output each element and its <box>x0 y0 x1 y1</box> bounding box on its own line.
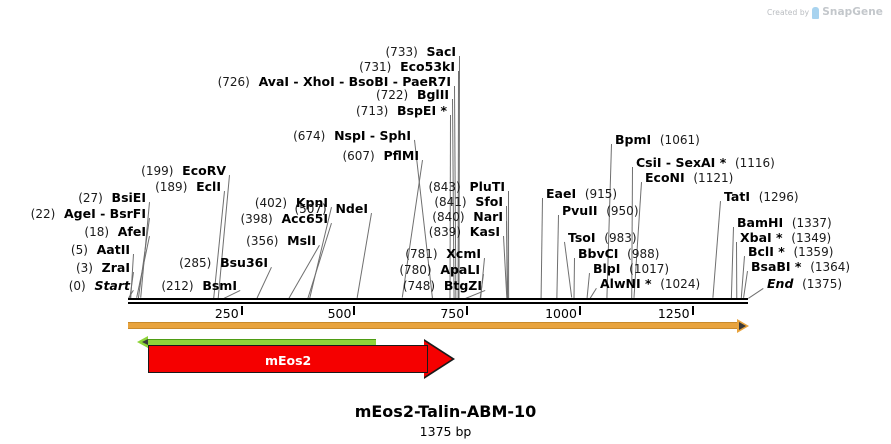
ruler-tick <box>353 306 355 315</box>
enzyme-site-label[interactable]: (843) PluTI <box>428 180 505 194</box>
enzyme-site-label[interactable]: (731) Eco53kI <box>359 60 455 74</box>
enzyme-site-label[interactable]: (839) KasI <box>429 225 500 239</box>
leader-line <box>541 198 543 298</box>
enzyme-site-label[interactable]: (713) BspEI * <box>356 104 447 118</box>
enzyme-site-label[interactable]: (840) NarI <box>432 210 503 224</box>
leader-line <box>556 215 559 298</box>
feature-orange-arrowhead-inner <box>739 322 746 330</box>
leader-line <box>402 160 423 298</box>
enzyme-site-label[interactable]: (507) NdeI <box>294 202 368 216</box>
enzyme-site-label[interactable]: BbvCI (988) <box>578 247 659 261</box>
ruler-tick-label: 1000 <box>545 306 577 321</box>
enzyme-site-label[interactable]: (22) AgeI - BsrFI <box>31 207 146 221</box>
ruler-tick <box>241 306 243 315</box>
leader-line <box>564 242 572 298</box>
enzyme-site-label[interactable]: TatI (1296) <box>724 190 799 204</box>
ruler-tick <box>466 306 468 315</box>
leader-line <box>590 288 597 299</box>
plasmid-map-canvas: Created by SnapGene (0) Start(3) ZraI(5)… <box>0 0 891 444</box>
leader-line <box>712 201 721 298</box>
enzyme-site-label[interactable]: (356) MslI <box>246 234 316 248</box>
feature-meos2-arrowhead <box>424 341 452 377</box>
enzyme-site-label[interactable]: (18) AfeI <box>84 225 146 239</box>
enzyme-site-label[interactable]: XbaI * (1349) <box>740 231 831 245</box>
ruler-tick-label: 500 <box>328 306 352 321</box>
enzyme-site-label[interactable]: (733) SacI <box>386 45 457 59</box>
leader-line <box>573 258 575 298</box>
enzyme-site-label[interactable]: BpmI (1061) <box>615 133 700 147</box>
enzyme-site-label[interactable]: (781) XcmI <box>405 247 481 261</box>
enzyme-site-label[interactable]: AlwNI * (1024) <box>600 277 700 291</box>
leader-line <box>731 227 734 298</box>
enzyme-site-label[interactable]: (726) AvaI - XhoI - BsoBI - PaeR7I <box>218 75 451 89</box>
page-title: mEos2-Talin-ABM-10 <box>0 402 891 421</box>
leader-line <box>587 273 590 298</box>
enzyme-site-label[interactable]: (27) BsiEI <box>78 191 146 205</box>
watermark-created-label: Created by <box>767 8 809 17</box>
enzyme-site-label[interactable]: PvuII (950) <box>562 204 639 218</box>
enzyme-site-label[interactable]: (285) Bsu36I <box>179 256 268 270</box>
leader-line <box>257 267 272 298</box>
enzyme-site-label[interactable]: (780) ApaLI <box>399 263 480 277</box>
enzyme-site-label[interactable]: CsiI - SexAI * (1116) <box>636 156 775 170</box>
snapgene-logo-icon <box>812 7 819 19</box>
enzyme-site-label[interactable]: (199) EcoRV <box>141 164 226 178</box>
enzyme-site-label[interactable]: (841) SfoI <box>434 195 503 209</box>
ruler-tick <box>692 306 694 315</box>
enzyme-site-label[interactable]: EaeI (915) <box>546 187 617 201</box>
snapgene-watermark: Created by SnapGene <box>767 6 883 18</box>
enzyme-site-label[interactable]: BlpI (1017) <box>593 262 669 276</box>
enzyme-site-label[interactable]: TsoI (983) <box>568 231 637 245</box>
enzyme-site-label[interactable]: (748) BtgZI <box>403 279 482 293</box>
feature-green-arrowhead-inner <box>142 339 148 345</box>
enzyme-site-label[interactable]: BclI * (1359) <box>748 245 833 259</box>
enzyme-site-label[interactable]: End (1375) <box>767 277 842 291</box>
leader-line <box>508 191 509 298</box>
sequence-backbone-lower <box>128 302 748 304</box>
enzyme-site-label[interactable]: (722) BglII <box>376 88 449 102</box>
watermark-brand-label: SnapGene <box>822 6 883 18</box>
enzyme-site-label[interactable]: (674) NspI - SphI <box>293 129 411 143</box>
enzyme-site-label[interactable]: (0) Start <box>69 279 130 293</box>
feature-orange-full-length[interactable] <box>128 322 738 329</box>
sequence-backbone-upper <box>128 298 748 300</box>
enzyme-site-label[interactable]: (5) AatII <box>71 243 130 257</box>
enzyme-site-label[interactable]: (607) PflMI <box>342 149 419 163</box>
leader-line <box>736 242 737 298</box>
leader-line <box>357 213 372 298</box>
leader-line <box>748 288 764 299</box>
ruler-tick-label: 1250 <box>658 306 690 321</box>
enzyme-site-label[interactable]: EcoNI (1121) <box>645 171 733 185</box>
enzyme-site-label[interactable]: BsaBI * (1364) <box>751 260 850 274</box>
enzyme-site-label[interactable]: (212) BsmI <box>161 279 237 293</box>
enzyme-site-label[interactable]: (189) EclI <box>155 180 221 194</box>
enzyme-site-label[interactable]: BamHI (1337) <box>737 216 832 230</box>
enzyme-site-label[interactable]: (3) ZraI <box>76 261 130 275</box>
ruler-tick <box>579 306 581 315</box>
ruler-tick-label: 250 <box>215 306 239 321</box>
feature-meos2-label: mEos2 <box>265 353 311 368</box>
leader-line <box>743 271 748 298</box>
ruler-tick-label: 750 <box>440 306 464 321</box>
sequence-length-label: 1375 bp <box>0 424 891 439</box>
